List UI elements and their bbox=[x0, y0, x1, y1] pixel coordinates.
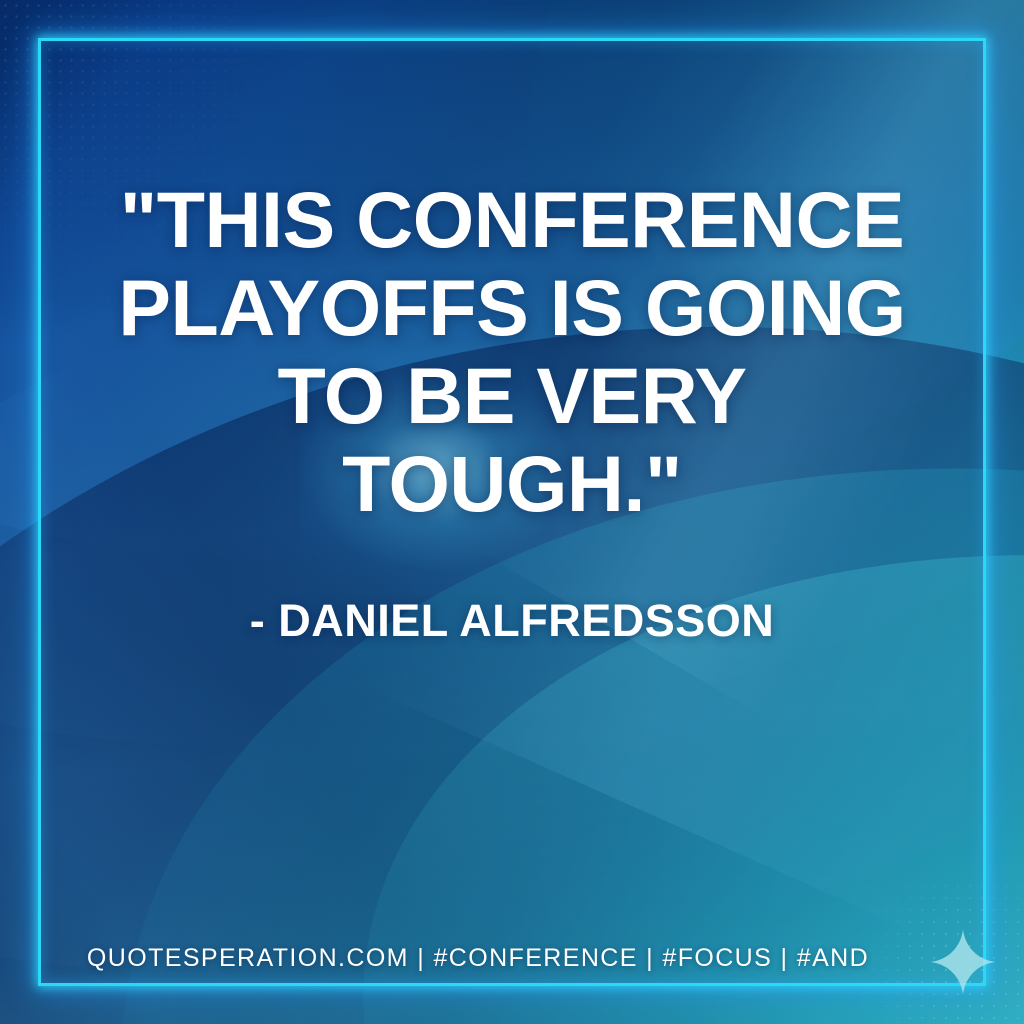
quote-card: "THIS CONFERENCE PLAYOFFS IS GOING TO BE… bbox=[0, 0, 1024, 1024]
quote-block: "THIS CONFERENCE PLAYOFFS IS GOING TO BE… bbox=[92, 176, 932, 528]
quote-attribution: - DANIEL ALFREDSSON bbox=[92, 596, 932, 646]
card-content: "THIS CONFERENCE PLAYOFFS IS GOING TO BE… bbox=[0, 0, 1024, 1024]
sparkle-icon bbox=[929, 928, 997, 996]
footer-credits: QUOTESPERATION.COM | #CONFERENCE | #FOCU… bbox=[60, 943, 964, 973]
quote-line-3: TO BE VERY bbox=[92, 352, 932, 440]
quote-line-1: "THIS CONFERENCE bbox=[92, 176, 932, 264]
quote-line-4: TOUGH." bbox=[92, 440, 932, 528]
quote-line-2: PLAYOFFS IS GOING bbox=[92, 264, 932, 352]
